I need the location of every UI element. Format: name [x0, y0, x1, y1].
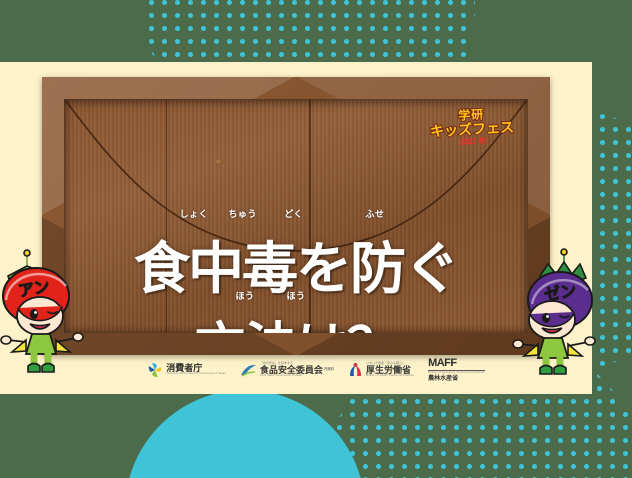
sponsor-logo-maff: MAFF Ministry of Agriculture, Forestry a… — [428, 358, 485, 382]
caa-pinwheel-icon — [147, 362, 163, 378]
fsc-swoosh-icon — [240, 363, 257, 378]
ruby-chuu: ちゅう — [228, 207, 257, 220]
maff-brand: MAFF — [428, 358, 485, 369]
gakken-kids-fes-logo: 学研 キッズフェス 2022 秋 — [429, 107, 515, 148]
sponsor-logo-fsc: 「食の安全」を科学する 食品安全委員会 Food Safety Commissi… — [240, 362, 334, 377]
ruby-hou-1: ほう — [235, 289, 254, 302]
maff-name-jp: 農林水産省 — [428, 376, 485, 382]
sponsor-logo-row: 消費者庁 Consumer Affairs Agency, Government… — [0, 358, 632, 382]
wooden-board: しょく ちゅう どく ふせ 食中毒を防ぐ ほう ほう 方法は？ まいにち しゅう… — [42, 77, 550, 355]
caa-name-en: Consumer Affairs Agency, Government of J… — [166, 373, 226, 376]
headline-line-2: 方法は？ — [64, 305, 528, 333]
teal-solid-circle — [125, 390, 365, 478]
mhlw-name-en: Ministry of Health, Labour and Welfare — [366, 375, 414, 378]
maff-name-en: Ministry of Agriculture, Forestry and Fi… — [428, 372, 485, 375]
ruby-hou-2: ほう — [286, 289, 305, 302]
fest-logo-line-2: キッズフェス — [430, 120, 515, 138]
mhlw-people-icon — [348, 363, 363, 378]
fsc-parent-org: 内閣府 — [324, 368, 334, 372]
sponsor-logo-caa: 消費者庁 Consumer Affairs Agency, Government… — [147, 362, 226, 378]
sponsor-logo-mhlw: いきいき健康・安心な暮らし 厚生労働省 Ministry of Health, … — [348, 362, 414, 377]
ruby-doku: どく — [284, 207, 303, 220]
board-surface: しょく ちゅう どく ふせ 食中毒を防ぐ ほう ほう 方法は？ まいにち しゅう… — [64, 99, 528, 333]
ruby-fuse: ふせ — [365, 207, 384, 220]
ruby-shoku: しょく — [180, 207, 209, 220]
poster-canvas: しょく ちゅう どく ふせ 食中毒を防ぐ ほう ほう 方法は？ まいにち しゅう… — [0, 0, 632, 478]
fsc-name-en: Food Safety Commission of Japan — [260, 375, 323, 378]
